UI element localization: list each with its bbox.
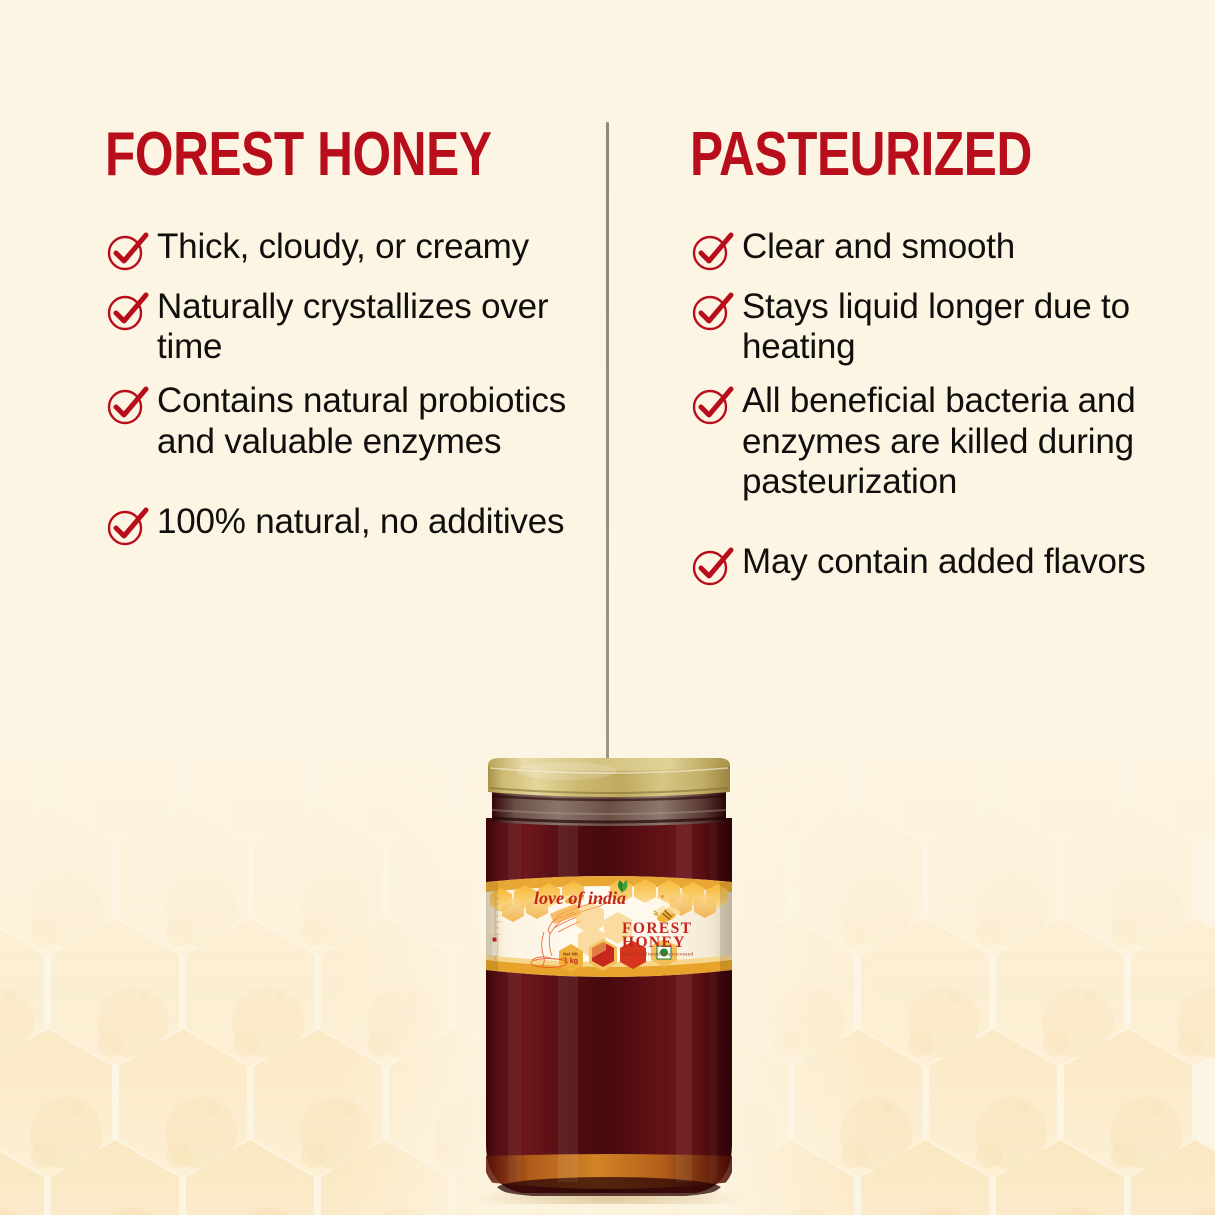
- column-pasteurized: PASTEURIZED Clear and smooth: [690, 126, 1195, 602]
- list-item-label: All beneficial bacteria and enzymes are …: [742, 381, 1195, 502]
- check-circle-icon: [105, 383, 149, 427]
- check-circle-icon: [105, 504, 149, 548]
- list-item: Stays liquid longer due to heating: [690, 287, 1195, 368]
- column-divider: [606, 122, 609, 762]
- list-item-label: 100% natural, no additives: [157, 502, 564, 542]
- product-jar-image: Net Wt. 1 kg: [470, 752, 748, 1204]
- list-item-label: Clear and smooth: [742, 227, 1015, 267]
- list-item: Naturally crystallizes over time: [105, 287, 605, 368]
- product-name-line2: HONEY: [622, 934, 686, 951]
- column-title-pasteurized: PASTEURIZED: [690, 126, 1094, 185]
- list-item: May contain added flavors: [690, 542, 1195, 588]
- check-circle-icon: [690, 383, 734, 427]
- check-circle-icon: [105, 229, 149, 273]
- brand-name-text: love of india: [534, 888, 626, 908]
- check-circle-icon: [690, 544, 734, 588]
- benefit-list-forest-honey: Thick, cloudy, or creamy Naturally cryst…: [105, 227, 605, 548]
- list-item-label: Stays liquid longer due to heating: [742, 287, 1195, 368]
- list-item-label: Thick, cloudy, or creamy: [157, 227, 529, 267]
- jar-body: [486, 818, 732, 1193]
- column-forest-honey: FOREST HONEY Thick, cloudy, or creamy: [105, 126, 605, 562]
- list-item: Clear and smooth: [690, 227, 1195, 273]
- check-circle-icon: [105, 289, 149, 333]
- list-item-label: Contains natural probiotics and valuable…: [157, 381, 605, 462]
- check-circle-icon: [690, 229, 734, 273]
- list-item: All beneficial bacteria and enzymes are …: [690, 381, 1195, 502]
- column-title-forest-honey: FOREST HONEY: [105, 126, 505, 185]
- check-circle-icon: [690, 289, 734, 333]
- list-item: 100% natural, no additives: [105, 502, 605, 548]
- list-item-label: Naturally crystallizes over time: [157, 287, 605, 368]
- benefit-list-pasteurized: Clear and smooth Stays liquid longer due…: [690, 227, 1195, 588]
- product-name: FOREST HONEY Raw Unfiltered Unprocessed: [622, 920, 693, 958]
- list-item-label: May contain added flavors: [742, 542, 1146, 582]
- brand-trademark: ®: [661, 894, 664, 899]
- list-item: Thick, cloudy, or creamy: [105, 227, 605, 273]
- net-weight-label: Net Wt.: [563, 952, 579, 957]
- jar-lid: [488, 758, 730, 797]
- list-item: Contains natural probiotics and valuable…: [105, 381, 605, 462]
- product-tagline: Raw Unfiltered Unprocessed: [622, 951, 693, 958]
- product-label: Net Wt. 1 kg: [486, 876, 732, 982]
